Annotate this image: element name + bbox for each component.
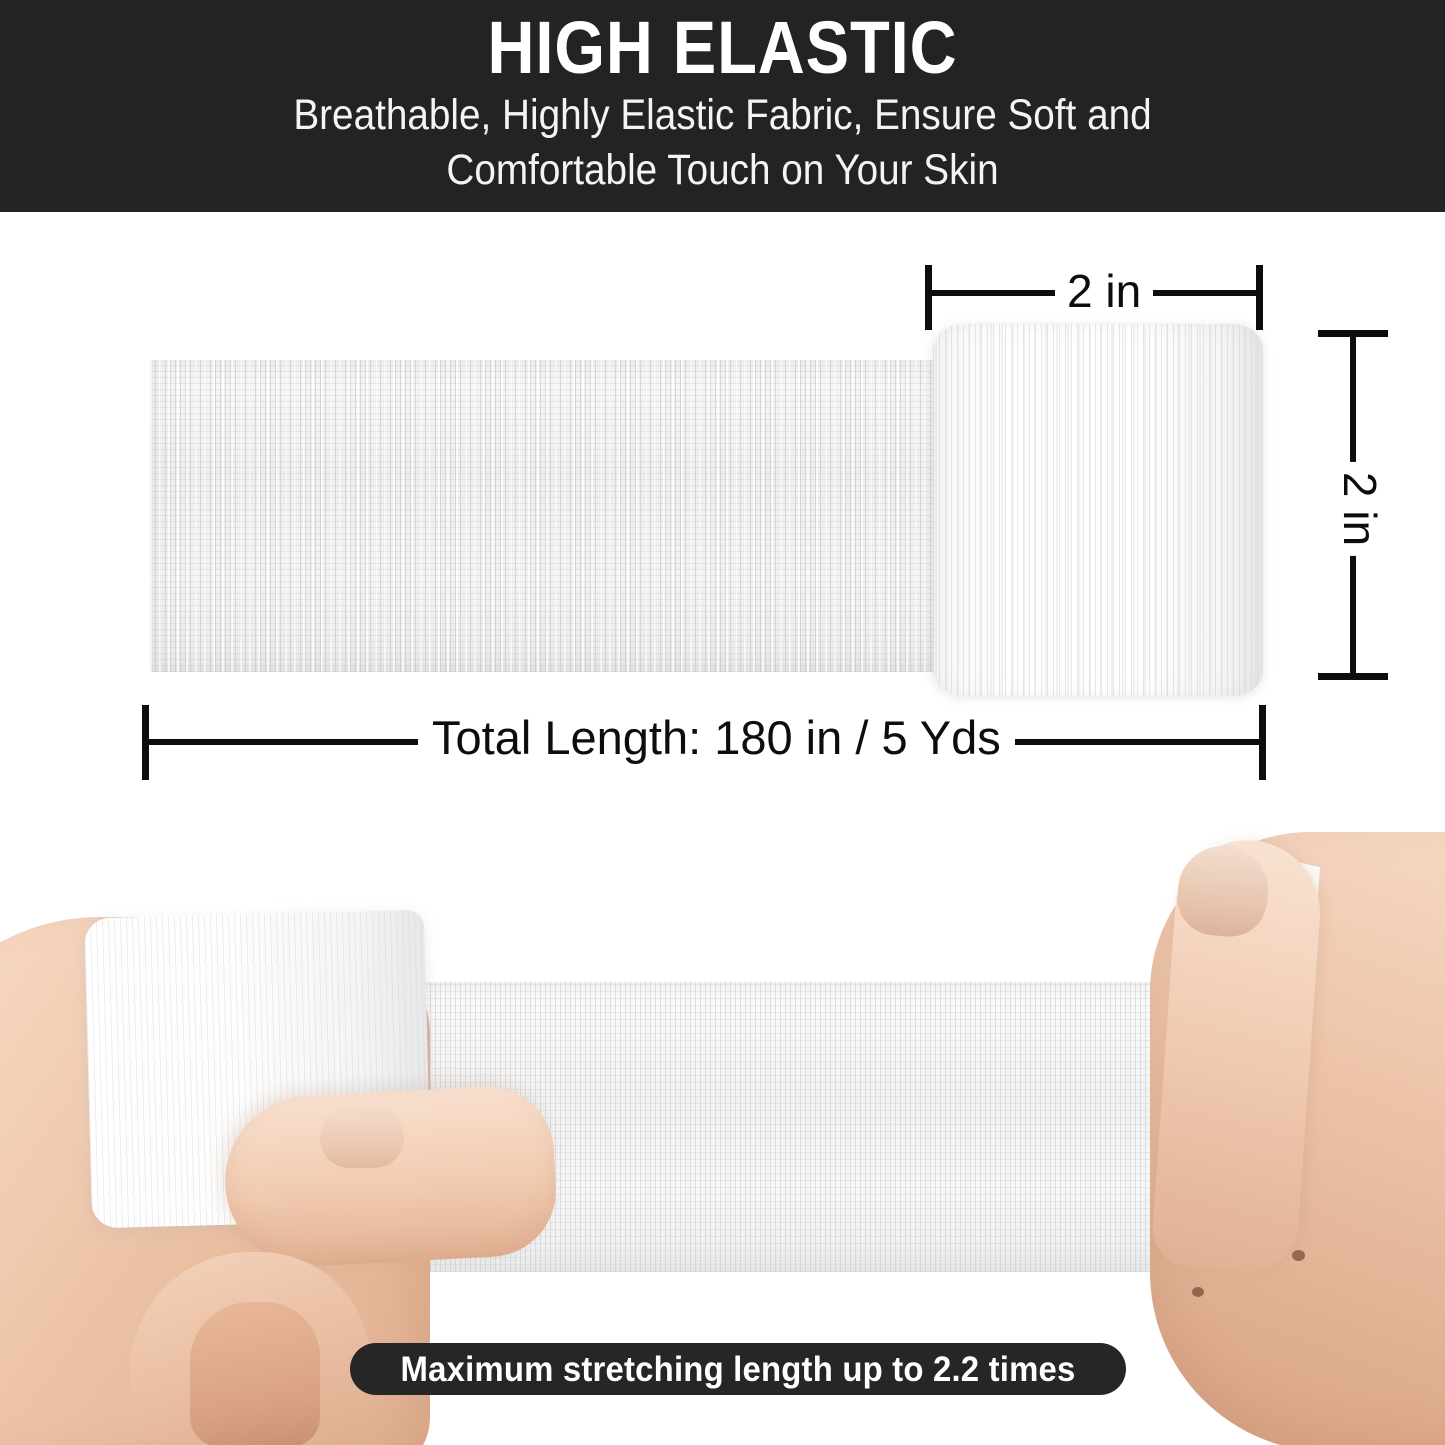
product-infographic: HIGH ELASTIC Breathable, Highly Elastic … [0,0,1445,1445]
bandage-roll-end [933,324,1263,696]
skin-mole-lower [1192,1287,1204,1297]
width-dimension-cap-right [1256,265,1263,330]
left-hand-finger [190,1302,320,1445]
height-dimension-label: 2 in [1331,462,1389,556]
header-banner: HIGH ELASTIC Breathable, Highly Elastic … [0,0,1445,212]
stretch-caption-text: Maximum stretching length up to 2.2 time… [401,1352,1076,1387]
length-dimension-label: Total Length: 180 in / 5 Yds [418,715,1015,761]
product-dimension-diagram: 2 in 2 in Total Length: 180 in / 5 Yds [0,212,1445,822]
width-dimension-cap-left [925,265,932,330]
width-dimension-label: 2 in [1055,268,1153,314]
banner-subtitle-line-2: Comfortable Touch on Your Skin [72,143,1373,198]
bandage-flat-strip [150,360,950,672]
left-hand-thumbnail [320,1104,404,1168]
stretch-demo-photo: Maximum stretching length up to 2.2 time… [0,822,1445,1445]
banner-subtitle-line-1: Breathable, Highly Elastic Fabric, Ensur… [72,88,1373,143]
banner-title: HIGH ELASTIC [87,8,1359,88]
stretch-caption-pill: Maximum stretching length up to 2.2 time… [350,1343,1126,1395]
skin-mole-upper [1292,1250,1305,1261]
